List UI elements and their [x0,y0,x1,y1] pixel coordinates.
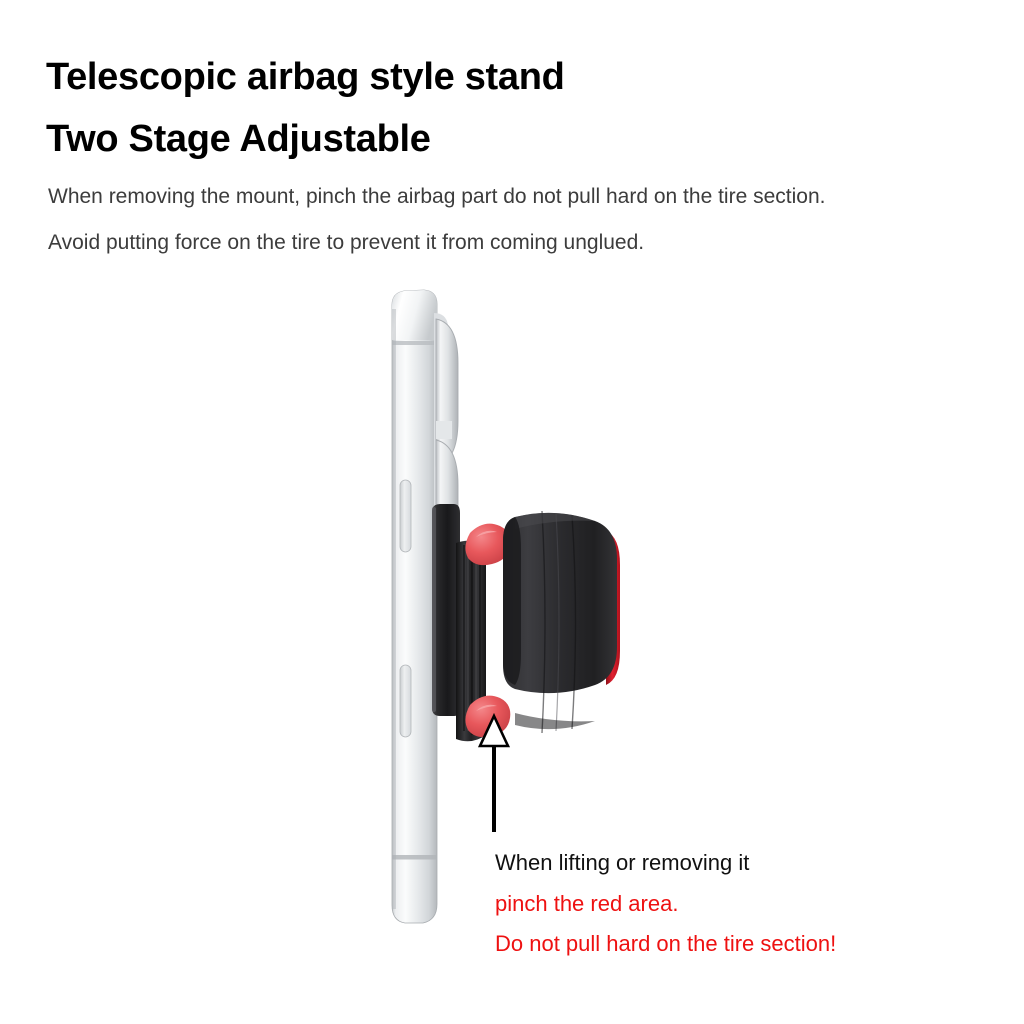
phone-left-edge-shadow [392,309,396,909]
callout-line-1: When lifting or removing it [495,852,749,874]
magnet-disc-body [432,504,460,716]
up-arrow-icon [470,712,520,842]
callout-line-3: Do not pull hard on the tire section! [495,933,836,955]
description-line-1: When removing the mount, pinch the airba… [48,186,825,207]
tire-section[interactable] [503,511,620,733]
tire-bottom-shoulder [515,713,595,729]
arrow-shaft [492,746,496,832]
phone-antenna-line-bottom [392,855,437,860]
magnet-base-disc[interactable] [432,504,460,716]
page-title-line-2: Two Stage Adjustable [46,120,431,158]
phone-top-cap [392,290,437,340]
tire-inner-face [503,517,521,685]
phone-antenna-line-top [392,341,437,345]
phone-body [392,290,437,923]
arrow-head [480,716,508,746]
volume-up-button[interactable] [400,480,411,552]
page-title-line-1: Telescopic airbag style stand [46,58,565,96]
magnet-disc-edge-highlight [432,507,436,712]
camera-bump-gap [436,421,452,439]
description-line-2: Avoid putting force on the tire to preve… [48,232,644,253]
volume-down-button[interactable] [400,665,411,737]
infographic-page: Telescopic airbag style stand Two Stage … [0,0,1024,1024]
callout-line-2: pinch the red area. [495,893,678,915]
